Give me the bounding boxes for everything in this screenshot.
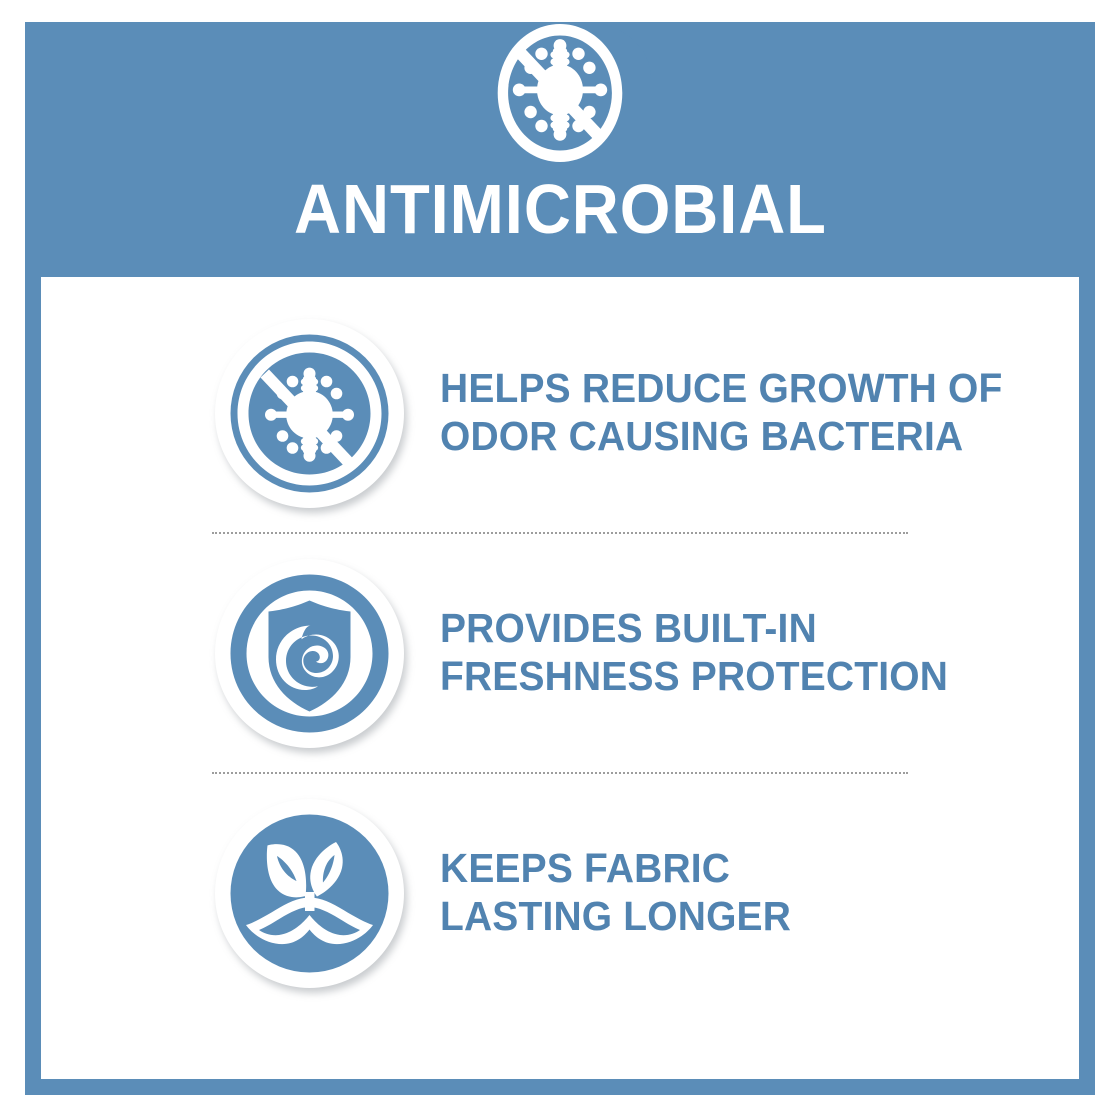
sprout-leaf-icon <box>215 799 404 988</box>
feature-label: PROVIDES BUILT-IN FRESHNESS PROTECTION <box>440 605 948 700</box>
feature-label: KEEPS FABRIC LASTING LONGER <box>440 845 791 940</box>
divider <box>212 772 908 774</box>
virus-blocked-badge <box>215 319 404 508</box>
header-banner: ANTIMICROBIAL <box>25 22 1095 276</box>
feature-row: PROVIDES BUILT-IN FRESHNESS PROTECTION <box>41 534 1079 772</box>
feature-list: HELPS REDUCE GROWTH OF ODOR CAUSING BACT… <box>41 277 1079 1079</box>
page-title: ANTIMICROBIAL <box>294 174 827 244</box>
antimicrobial-infographic: ANTIMICROBIAL <box>0 0 1120 1120</box>
sprout-leaf-badge <box>215 799 404 988</box>
virus-blocked-icon <box>215 319 404 508</box>
shield-freshness-badge <box>215 559 404 748</box>
feature-card: HELPS REDUCE GROWTH OF ODOR CAUSING BACT… <box>41 277 1079 1079</box>
feature-label: HELPS REDUCE GROWTH OF ODOR CAUSING BACT… <box>440 365 1002 460</box>
feature-row: HELPS REDUCE GROWTH OF ODOR CAUSING BACT… <box>41 294 1079 532</box>
shield-freshness-icon <box>215 559 404 748</box>
feature-row: KEEPS FABRIC LASTING LONGER <box>41 774 1079 1012</box>
divider <box>212 532 908 534</box>
virus-blocked-icon <box>490 18 630 166</box>
